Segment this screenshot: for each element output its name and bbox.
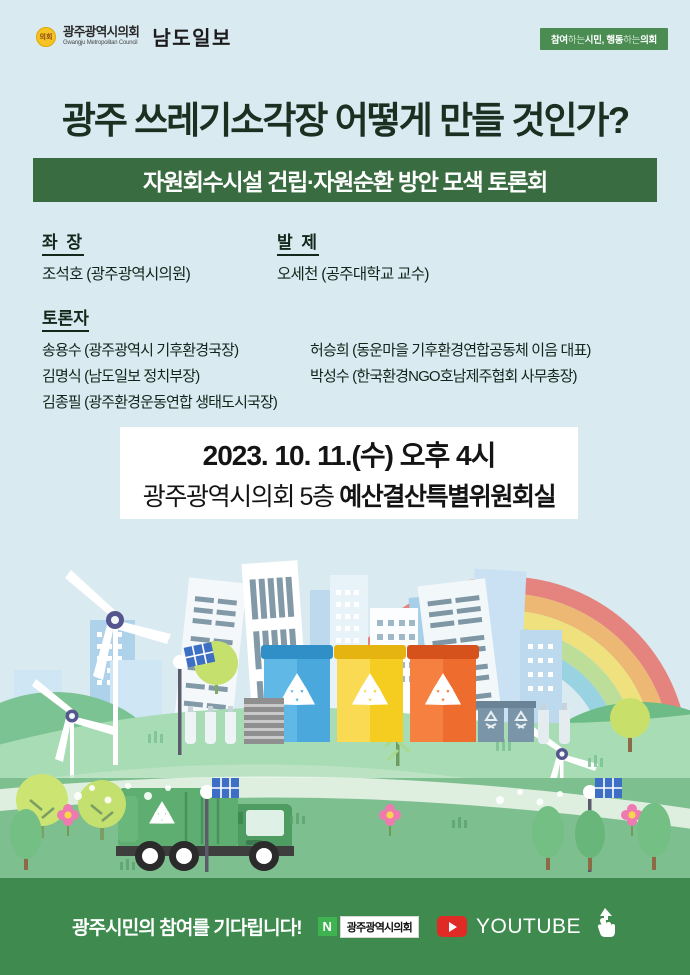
panelist-name: 박성수 (한국환경NGO호남제주협회 사무총장) <box>310 365 577 386</box>
poster-subtitle-bar: 자원회수시설 건립·자원순환 방안 모색 토론회 <box>33 158 657 202</box>
poster-main-title: 광주 쓰레기소각장 어떻게 만들 것인가? <box>0 90 690 144</box>
council-name-english: Gwangju Metropolitan Council <box>63 40 139 46</box>
illustration-svg <box>0 520 690 878</box>
panelists-role-label: 토론자 <box>42 304 89 332</box>
panelists-block: 토론자 송용수 (광주광역시 기후환경국장) 허승희 (동운마을 기후환경연합공… <box>42 304 662 417</box>
youtube-label: YOUTUBE <box>476 915 581 939</box>
youtube-play-icon <box>437 916 467 937</box>
panelists-grid: 송용수 (광주광역시 기후환경국장) 허승희 (동운마을 기후환경연합공동체 이… <box>42 339 662 412</box>
chair-column: 좌 장 조석호 (광주광역시의원) <box>42 228 190 284</box>
council-logo: 의회 광주광역시의회 Gwangju Metropolitan Council … <box>36 22 232 51</box>
presenter-name: 오세천 (공주대학교 교수) <box>277 262 429 284</box>
venue-room: 예산결산특별위원회실 <box>339 483 555 511</box>
slogan-seg-3: 시민, 행동 <box>585 35 623 46</box>
presenter-role-label: 발 제 <box>277 228 319 256</box>
panelist-name: 김명식 (남도일보 정치부장) <box>42 365 310 386</box>
venue-prefix: 광주광역시의회 5층 <box>143 483 339 511</box>
council-name-korean: 광주광역시의회 <box>63 26 139 39</box>
footer-message: 광주시민의 참여를 기다립니다! <box>72 913 302 940</box>
eco-city-illustration <box>0 520 690 878</box>
event-date: 2023. 10. 11.(수) 오후 4시 <box>203 434 496 474</box>
panelist-row: 송용수 (광주광역시 기후환경국장) 허승희 (동운마을 기후환경연합공동체 이… <box>42 339 662 360</box>
chair-name: 조석호 (광주광역시의원) <box>42 262 190 284</box>
panelist-name: 허승희 (동운마을 기후환경연합공동체 이음 대표) <box>310 339 591 360</box>
recycling-bin-yellow <box>334 645 406 742</box>
council-name-block: 광주광역시의회 Gwangju Metropolitan Council <box>63 26 139 46</box>
poster-header: 의회 광주광역시의회 Gwangju Metropolitan Council … <box>0 0 690 62</box>
presenter-column: 발 제 오세천 (공주대학교 교수) <box>277 228 429 284</box>
panelist-name: 송용수 (광주광역시 기후환경국장) <box>42 339 310 360</box>
slogan-seg-2: 하는 <box>568 35 585 46</box>
chair-role-label: 좌 장 <box>42 228 84 256</box>
panelist-row: 김종필 (광주환경운동연합 생태도시국장) <box>42 391 662 412</box>
event-venue: 광주광역시의회 5층 예산결산특별위원회실 <box>143 477 555 513</box>
small-bin-icon <box>476 701 506 742</box>
slogan-seg-4: 하는 <box>623 35 640 46</box>
slogan-seg-1: 참여 <box>551 35 568 46</box>
naver-logo-icon: N <box>318 917 337 936</box>
panelist-row: 김명식 (남도일보 정치부장) 박성수 (한국환경NGO호남제주협회 사무총장) <box>42 365 662 386</box>
panelist-name: 김종필 (광주환경운동연합 생태도시국장) <box>42 391 310 412</box>
naver-blog-label: 광주광역시의회 <box>340 916 419 938</box>
council-emblem-icon: 의회 <box>36 27 56 47</box>
slogan-seg-5: 의회 <box>640 35 657 46</box>
small-bin-icon <box>506 701 536 742</box>
event-datetime-box: 2023. 10. 11.(수) 오후 4시 광주광역시의회 5층 예산결산특별… <box>120 427 578 519</box>
press-partner-name: 남도일보 <box>152 22 232 51</box>
event-poster: 의회 광주광역시의회 Gwangju Metropolitan Council … <box>0 0 690 975</box>
hand-cursor-icon <box>592 907 618 939</box>
recycling-bin-orange <box>407 645 479 742</box>
youtube-link[interactable]: YOUTUBE <box>437 915 618 939</box>
poster-footer: 광주시민의 참여를 기다립니다! N 광주광역시의회 YOUTUBE <box>0 878 690 975</box>
poster-subtitle-text: 자원회수시설 건립·자원순환 방안 모색 토론회 <box>143 163 547 197</box>
naver-blog-link[interactable]: N 광주광역시의회 <box>318 916 419 938</box>
council-slogan-badge: 참여하는시민, 행동하는의회 <box>540 28 668 50</box>
crate-stack-icon <box>244 698 284 744</box>
